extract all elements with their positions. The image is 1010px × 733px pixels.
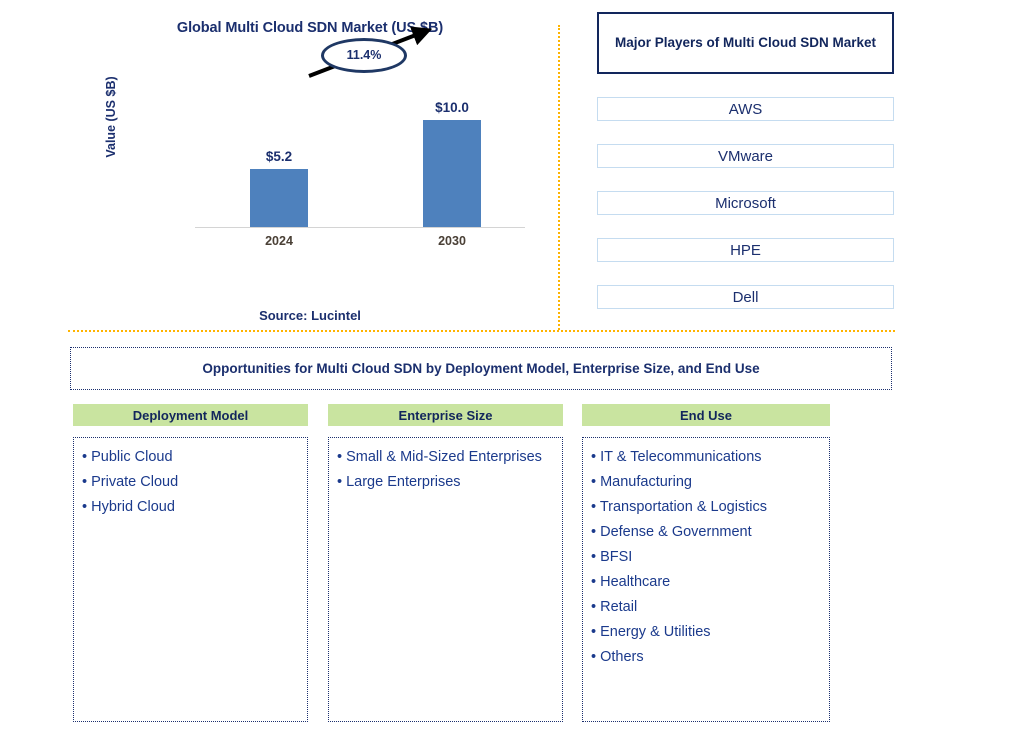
player-row[interactable]: AWS [597,97,894,121]
bar-2024 [250,169,308,227]
column-header-enterprise-size: Enterprise Size [328,404,563,426]
bar-value-2024: $5.2 [239,149,319,164]
list-item: • Private Cloud [82,472,299,492]
column-body-end-use: • IT & Telecommunications • Manufacturin… [582,437,830,722]
column-header-end-use: End Use [582,404,830,426]
list-item: • Public Cloud [82,447,299,467]
major-players-panel: Major Players of Multi Cloud SDN Market … [597,12,894,309]
list-item: • Transportation & Logistics [591,497,821,517]
x-tick-label-2024: 2024 [239,234,319,248]
bar-2030 [423,120,481,227]
x-tick-label-2030: 2030 [412,234,492,248]
list-item: • BFSI [591,547,821,567]
chart-plot-area: $5.2 $10.0 2024 2030 11.4% [195,40,525,228]
list-item: • Small & Mid-Sized Enterprises [337,447,554,467]
market-chart-panel: Global Multi Cloud SDN Market (US $B) Va… [70,10,550,320]
list-item: • Healthcare [591,572,821,592]
list-item: • Hybrid Cloud [82,497,299,517]
column-header-deployment-model: Deployment Model [73,404,308,426]
infographic-canvas: Global Multi Cloud SDN Market (US $B) Va… [0,0,1010,733]
list-item: • Others [591,647,821,667]
chart-x-axis-line [195,227,525,228]
player-row[interactable]: Microsoft [597,191,894,215]
vertical-divider [558,25,560,330]
column-body-deployment-model: • Public Cloud • Private Cloud • Hybrid … [73,437,308,722]
bar-value-2030: $10.0 [412,100,492,115]
player-row[interactable]: VMware [597,144,894,168]
major-players-header: Major Players of Multi Cloud SDN Market [597,12,894,74]
opportunities-banner: Opportunities for Multi Cloud SDN by Dep… [70,347,892,390]
list-item: • Energy & Utilities [591,622,821,642]
player-row[interactable]: Dell [597,285,894,309]
player-row[interactable]: HPE [597,238,894,262]
list-item: • Manufacturing [591,472,821,492]
list-item: • Large Enterprises [337,472,554,492]
list-item: • IT & Telecommunications [591,447,821,467]
source-note: Source: Lucintel [70,308,550,323]
chart-y-axis-label: Value (US $B) [104,52,118,182]
column-body-enterprise-size: • Small & Mid-Sized Enterprises • Large … [328,437,563,722]
list-item: • Retail [591,597,821,617]
horizontal-divider [68,330,895,332]
cagr-value-label: 11.4% [321,38,407,73]
cagr-annotation: 11.4% [303,24,443,86]
list-item: • Defense & Government [591,522,821,542]
